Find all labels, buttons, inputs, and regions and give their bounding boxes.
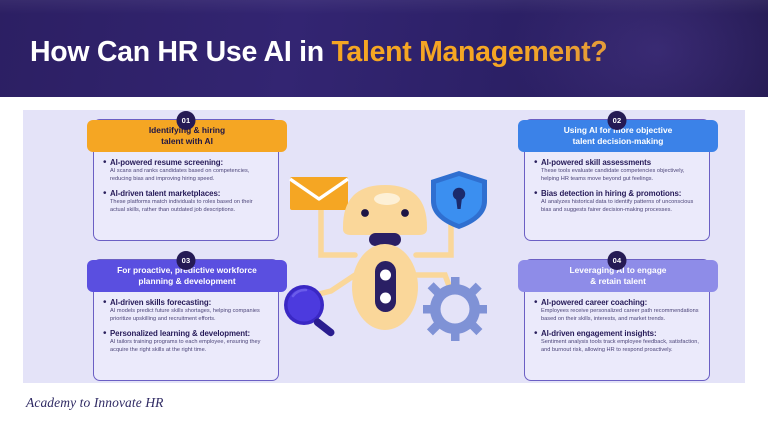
info-card-02[interactable]: 02 Using AI for more objective talent de… <box>524 119 710 241</box>
info-card-03[interactable]: 03 For proactive, predictive workforce p… <box>93 259 279 381</box>
robot-panel-light-bottom <box>380 293 391 304</box>
list-item: • AI-powered skill assessments These too… <box>534 158 700 184</box>
ai-robot-illustration <box>283 163 488 353</box>
robot-head <box>343 185 427 246</box>
footer: Academy to Innovate HR <box>0 383 768 432</box>
bullet-description: AI analyzes historical data to identify … <box>541 199 700 215</box>
bullet-description: AI scans and ranks candidates based on c… <box>110 168 269 184</box>
bullet-dot-icon: • <box>534 298 541 324</box>
bullet-description: Sentiment analysis tools track employee … <box>541 339 700 355</box>
bullet-dot-icon: • <box>103 158 110 184</box>
card-body-01: • AI-powered resume screening: AI scans … <box>94 156 278 219</box>
card-body-02: • AI-powered skill assessments These too… <box>525 156 709 219</box>
bullet-title: Bias detection in hiring & promotions: <box>541 189 700 199</box>
card-number-badge: 04 <box>608 251 627 270</box>
card-header-line2: talent decision-making <box>564 136 673 147</box>
bullet-title: AI-driven skills forecasting: <box>110 298 269 308</box>
bullet-description: These tools evaluate candidate competenc… <box>541 168 700 184</box>
card-body-03: • AI-driven skills forecasting: AI model… <box>94 296 278 359</box>
bullet-description: Employees receive personalized career pa… <box>541 308 700 324</box>
bullet-title: AI-powered resume screening: <box>110 158 269 168</box>
list-item: • AI-driven talent marketplaces: These p… <box>103 189 269 215</box>
brand-name: Academy to Innovate HR <box>26 395 164 411</box>
envelope-icon <box>290 177 348 210</box>
page-title: How Can HR Use AI in Talent Management? <box>30 38 607 67</box>
bullet-description: These platforms match individuals to rol… <box>110 199 269 215</box>
page-title-main: How Can HR Use AI in <box>30 36 331 68</box>
robot-panel <box>375 261 396 312</box>
robot-body <box>352 244 418 330</box>
bullet-description: AI tailors training programs to each emp… <box>110 339 269 355</box>
bullet-title: Personalized learning & development: <box>110 329 269 339</box>
bullet-title: AI-powered career coaching: <box>541 298 700 308</box>
bullet-title: AI-driven talent marketplaces: <box>110 189 269 199</box>
card-body-04: • AI-powered career coaching: Employees … <box>525 296 709 359</box>
list-item: • Bias detection in hiring & promotions:… <box>534 189 700 215</box>
bullet-dot-icon: • <box>534 158 541 184</box>
robot-eye-right <box>401 209 409 217</box>
header-banner: How Can HR Use AI in Talent Management? <box>0 0 768 97</box>
page-title-accent: Talent Management? <box>331 36 607 68</box>
card-header-line2: talent with AI <box>149 136 225 147</box>
robot-eye-left <box>361 209 369 217</box>
list-item: • AI-driven skills forecasting: AI model… <box>103 298 269 324</box>
info-card-01[interactable]: 01 Identifying & hiring talent with AI •… <box>93 119 279 241</box>
list-item: • AI-powered career coaching: Employees … <box>534 298 700 324</box>
bullet-description: AI models predict future skills shortage… <box>110 308 269 324</box>
bullet-dot-icon: • <box>103 298 110 324</box>
card-number-badge: 03 <box>177 251 196 270</box>
card-header-line2: & retain talent <box>570 276 667 287</box>
robot-panel-light-top <box>380 270 391 281</box>
bullet-dot-icon: • <box>103 189 110 215</box>
list-item: • AI-powered resume screening: AI scans … <box>103 158 269 184</box>
card-header-line2: planning & development <box>117 276 257 287</box>
list-item: • Personalized learning & development: A… <box>103 329 269 355</box>
robot-arm-lower-left <box>319 275 355 294</box>
card-number-badge: 01 <box>177 111 196 130</box>
bullet-title: AI-powered skill assessments <box>541 158 700 168</box>
gear-icon <box>423 277 487 341</box>
card-number-badge: 02 <box>608 111 627 130</box>
shield-icon <box>431 171 487 229</box>
list-item: • AI-driven engagement insights: Sentime… <box>534 329 700 355</box>
info-card-04[interactable]: 04 Leveraging AI to engage & retain tale… <box>524 259 710 381</box>
bullet-dot-icon: • <box>103 329 110 355</box>
bullet-dot-icon: • <box>534 329 541 355</box>
bullet-title: AI-driven engagement insights: <box>541 329 700 339</box>
bullet-dot-icon: • <box>534 189 541 215</box>
